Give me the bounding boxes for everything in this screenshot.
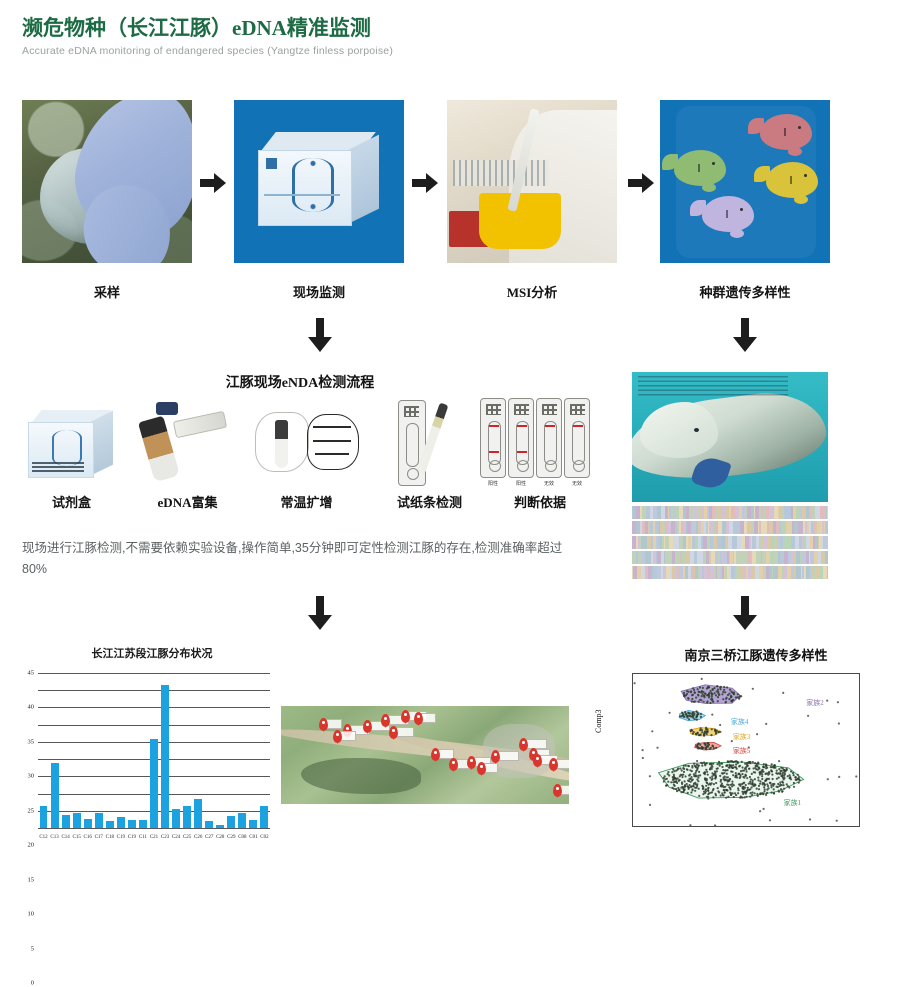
scatter-point	[765, 764, 767, 766]
scatter-point	[794, 776, 796, 778]
description-text: 现场进行江豚检测,不需要依赖实验设备,操作简单,35分钟即可定性检测江豚的存在,…	[22, 538, 584, 580]
scatter-point	[710, 734, 712, 736]
scatter-point	[717, 790, 719, 792]
map-marker-label	[326, 719, 342, 729]
dna-helix-icon	[292, 158, 334, 212]
map-pin[interactable]	[414, 712, 423, 725]
cluster-label: 家族1	[784, 798, 802, 808]
map-pin[interactable]	[363, 720, 372, 733]
scatter-point	[783, 788, 785, 790]
scatter-point	[730, 700, 732, 702]
map-marker-label	[340, 731, 356, 741]
kit-box-photo	[234, 100, 404, 263]
scatter-point	[752, 761, 754, 763]
scatter-point	[768, 771, 770, 773]
scatter-point	[728, 766, 730, 768]
scatter-point	[735, 760, 737, 762]
scatter-point	[675, 788, 677, 790]
yangtze-jiangsu-satellite-map[interactable]	[281, 706, 569, 804]
arrow-down-icon	[733, 596, 757, 630]
test-strip: 无效	[536, 398, 562, 487]
scatter-point	[770, 766, 772, 768]
scatter-point	[751, 786, 753, 788]
scatter-point	[688, 718, 690, 720]
scatter-point	[666, 778, 668, 780]
scatter-point	[759, 783, 761, 785]
scatter-title: 南京三桥江豚遗传多样性	[596, 645, 896, 664]
scatter-point	[682, 774, 684, 776]
scatter-point	[742, 776, 744, 778]
scatter-point	[715, 733, 717, 735]
scatter-point	[671, 771, 673, 773]
scatter-point	[705, 728, 707, 730]
scatter-point	[706, 771, 708, 773]
map-marker-label	[484, 763, 498, 773]
scatter-point	[697, 743, 699, 745]
scatter-point	[696, 719, 698, 721]
scatter-point	[672, 777, 674, 779]
scatter-point	[757, 777, 759, 779]
scatter-point	[722, 785, 724, 787]
scatter-point	[739, 774, 741, 776]
scatter-point	[722, 769, 724, 771]
scatter-point	[709, 783, 711, 785]
bar	[106, 821, 114, 828]
scatter-point	[721, 693, 723, 695]
hand-amplification-icon	[249, 396, 364, 488]
scatter-point	[673, 784, 675, 786]
bar	[95, 813, 103, 828]
scatter-point	[732, 767, 734, 769]
scatter-point	[709, 777, 711, 779]
scatter-point	[706, 700, 708, 702]
x-axis-tick: C25	[182, 835, 193, 840]
yangtze-finless-porpoise-photo	[632, 372, 828, 502]
cluster-label: 家族5	[733, 746, 751, 756]
scatter-point	[741, 766, 743, 768]
scatter-point	[732, 774, 734, 776]
scatter-point	[686, 690, 688, 692]
scatter-point	[734, 792, 736, 794]
scatter-point	[781, 775, 783, 777]
scatter-point	[717, 696, 719, 698]
scatter-point	[731, 781, 733, 783]
scatter-point	[701, 785, 703, 787]
scatter-point	[663, 780, 665, 782]
workflow-step-label: 试纸条检测	[372, 492, 487, 511]
scatter-point-outlier	[838, 722, 840, 724]
map-pin[interactable]	[319, 718, 328, 731]
scatter-point	[735, 774, 737, 776]
scatter-point	[703, 735, 705, 737]
scatter-point	[702, 793, 704, 795]
scatter-point	[742, 787, 744, 789]
scatter-point	[783, 775, 785, 777]
scatter-point-outlier	[725, 776, 727, 778]
scatter-point	[729, 689, 731, 691]
strip-line	[573, 425, 583, 427]
scatter-point-outlier	[696, 760, 698, 762]
scatter-point	[726, 784, 728, 786]
arrow-right-icon	[628, 172, 654, 194]
scatter-point	[773, 765, 775, 767]
porpoise-green-icon	[674, 150, 726, 186]
map-pin[interactable]	[549, 758, 558, 771]
scatter-point	[755, 768, 757, 770]
scatter-point	[724, 691, 726, 693]
scatter-point	[750, 792, 752, 794]
scatter-point	[752, 779, 754, 781]
scatter-point	[732, 692, 734, 694]
scatter-point	[730, 696, 732, 698]
scatter-point	[728, 698, 730, 700]
gridline: 35	[38, 707, 270, 708]
scatter-point	[698, 795, 700, 797]
y-axis-tick: 30	[28, 773, 35, 780]
scatter-point	[759, 780, 761, 782]
scatter-point	[772, 778, 774, 780]
map-pin[interactable]	[477, 762, 486, 775]
scatter-point	[748, 761, 750, 763]
scatter-point-outlier	[634, 682, 636, 684]
scatter-point	[795, 779, 797, 781]
scatter-point	[710, 747, 712, 749]
scatter-point-outlier	[836, 820, 838, 822]
test-strip: 无效	[564, 398, 590, 487]
strip-line	[489, 425, 499, 427]
scatter-point	[716, 768, 718, 770]
scatter-point	[668, 774, 670, 776]
scatter-point	[677, 768, 679, 770]
page-title: 濒危物种（长江江豚）eDNA精准监测	[22, 12, 393, 42]
scatter-point	[767, 787, 769, 789]
scatter-point	[695, 733, 697, 735]
workflow-step-label: eDNA富集	[130, 492, 245, 511]
scatter-point	[741, 797, 743, 799]
scatter-point	[692, 715, 694, 717]
x-axis-tick: C16	[82, 835, 93, 840]
scatter-point	[700, 713, 702, 715]
map-pin[interactable]	[533, 754, 542, 767]
scatter-point	[786, 783, 788, 785]
scatter-point	[778, 777, 780, 779]
scatter-point	[754, 762, 756, 764]
scatter-point	[716, 770, 718, 772]
scatter-point	[697, 777, 699, 779]
map-pin[interactable]	[553, 784, 562, 797]
bar	[183, 806, 191, 828]
scatter-point	[733, 796, 735, 798]
scatter-point	[748, 768, 750, 770]
strip-line	[489, 451, 499, 453]
vegetation-patch	[301, 758, 421, 794]
scatter-point	[730, 764, 732, 766]
scatter-point	[724, 776, 726, 778]
scatter-point	[773, 788, 775, 790]
scatter-point	[765, 780, 767, 782]
scatter-point-outlier	[651, 730, 653, 732]
top-flow-row: 采样 现场监测	[0, 100, 900, 305]
bar	[128, 820, 136, 828]
scatter-point-outlier	[807, 715, 809, 717]
scatter-point	[694, 790, 696, 792]
scatter-point	[684, 780, 686, 782]
scatter-point	[736, 696, 738, 698]
scatter-point	[711, 775, 713, 777]
bar	[150, 739, 158, 828]
scatter-point	[737, 792, 739, 794]
scatter-point	[676, 790, 678, 792]
scatter-point	[728, 693, 730, 695]
scatter-point	[725, 701, 727, 703]
strip-line	[517, 425, 527, 427]
bar	[205, 821, 213, 828]
porpoise-yellow-icon	[766, 162, 818, 198]
x-axis-tick: C19	[126, 835, 137, 840]
map-pin[interactable]	[389, 726, 398, 739]
scatter-point	[729, 778, 731, 780]
scatter-point	[683, 694, 685, 696]
bar	[161, 685, 169, 828]
scatter-point	[721, 783, 723, 785]
yellow-rack	[479, 193, 561, 249]
barcode-row	[632, 536, 828, 549]
scatter-point	[677, 787, 679, 789]
scatter-point	[765, 767, 767, 769]
scatter-point	[679, 767, 681, 769]
strip-line	[545, 425, 555, 427]
scatter-point	[713, 783, 715, 785]
porpoise-eye	[694, 428, 699, 432]
lab-pipetting-photo	[447, 100, 617, 263]
scatter-point	[686, 785, 688, 787]
workflow-step-label: 常温扩增	[249, 492, 364, 511]
scatter-point	[723, 789, 725, 791]
scatter-point	[681, 769, 683, 771]
x-axis-tick: C02	[259, 835, 270, 840]
bar	[238, 813, 246, 828]
scatter-point	[687, 792, 689, 794]
y-tick-mark	[632, 826, 633, 827]
scatter-point	[727, 761, 729, 763]
map-pin[interactable]	[491, 750, 500, 763]
barcode-row	[632, 506, 828, 519]
scatter-point	[673, 788, 675, 790]
scatter-point	[717, 731, 719, 733]
arrow-down-icon	[308, 318, 332, 352]
scatter-point	[753, 767, 755, 769]
scatter-point	[758, 768, 760, 770]
scatter-point-outlier	[782, 692, 784, 694]
x-axis-tick: C11	[137, 835, 148, 840]
scatter-point	[723, 794, 725, 796]
scatter-point	[724, 791, 726, 793]
map-pin[interactable]	[467, 756, 476, 769]
x-axis-tick: C19	[115, 835, 126, 840]
scatter-point-outlier	[826, 700, 828, 702]
flow-step-genetic-diversity: 种群遗传多样性	[660, 100, 830, 301]
scatter-point	[790, 770, 792, 772]
scatter-point	[693, 731, 695, 733]
scatter-point	[743, 769, 745, 771]
arrow-down-icon	[733, 318, 757, 352]
scatter-point	[665, 784, 667, 786]
scatter-point	[765, 773, 767, 775]
scatter-point	[723, 686, 725, 688]
map-pin[interactable]	[431, 748, 440, 761]
gridline: 40	[38, 690, 270, 691]
scatter-point	[737, 693, 739, 695]
scatter-point	[689, 784, 691, 786]
reagent-kit-icon	[28, 410, 114, 478]
scatter-point	[761, 775, 763, 777]
scatter-point	[778, 791, 780, 793]
scatter-point	[697, 688, 699, 690]
scatter-point	[764, 788, 766, 790]
scatter-point-outlier	[752, 688, 754, 690]
scatter-point	[691, 770, 693, 772]
workflow-step-kit: 试剂盒	[14, 396, 129, 511]
scatter-point-outlier	[719, 724, 721, 726]
scatter-point	[753, 771, 755, 773]
scatter-point	[758, 785, 760, 787]
scatter-point	[797, 774, 799, 776]
page-subtitle: Accurate eDNA monitoring of endangered s…	[22, 45, 393, 57]
scatter-point	[714, 772, 716, 774]
map-pin[interactable]	[401, 710, 410, 723]
scatter-point	[714, 728, 716, 730]
scatter-point	[783, 778, 785, 780]
scatter-point	[697, 780, 699, 782]
flow-step-label: MSI分析	[447, 282, 617, 301]
bar	[227, 816, 235, 828]
workflow-title: 江豚现场eNDA检测流程	[0, 372, 600, 392]
scatter-point	[706, 796, 708, 798]
x-axis-tick: C12	[38, 835, 49, 840]
scatter-point-outlier	[769, 819, 771, 821]
scatter-point	[748, 783, 750, 785]
scatter-point	[749, 788, 751, 790]
scatter-point	[696, 787, 698, 789]
scatter-point-outlier	[701, 678, 703, 680]
scatter-point	[719, 687, 721, 689]
y-axis-tick: 40	[28, 704, 35, 711]
scatter-point-outlier	[838, 776, 840, 778]
scatter-point-outlier	[809, 818, 811, 820]
scatter-point	[691, 785, 693, 787]
scatter-point-outlier	[767, 778, 769, 780]
bar	[139, 820, 147, 828]
workflow-step-label: 试剂盒	[14, 492, 129, 511]
scatter-point	[696, 715, 698, 717]
bar	[62, 815, 70, 828]
scatter-point	[782, 782, 784, 784]
scatter-point	[694, 765, 696, 767]
scatter-point	[763, 782, 765, 784]
scatter-point	[770, 786, 772, 788]
scatter-point	[789, 774, 791, 776]
scatter-plot-area: 0.40.30.20.10.0-0.1-0.2-0.3-0.4-0.20.00.…	[632, 673, 860, 827]
scatter-point	[712, 796, 714, 798]
barcode-row	[632, 551, 828, 564]
scatter-point	[741, 783, 743, 785]
scatter-point	[695, 697, 697, 699]
flow-step-label: 现场监测	[234, 282, 404, 301]
scatter-point	[724, 779, 726, 781]
map-pin[interactable]	[449, 758, 458, 771]
scatter-point	[712, 763, 714, 765]
map-pin[interactable]	[381, 714, 390, 727]
scatter-point	[716, 690, 718, 692]
scatter-point	[682, 767, 684, 769]
scatter-point	[672, 768, 674, 770]
scatter-point-outlier	[642, 749, 644, 751]
scatter-point	[689, 715, 691, 717]
scatter-point	[737, 787, 739, 789]
scatter-point	[691, 789, 693, 791]
scatter-point	[711, 693, 713, 695]
scatter-point	[686, 783, 688, 785]
reagent-kit-box	[258, 132, 380, 228]
bar-chart-plot-area: 051015202530354045	[38, 673, 270, 828]
map-marker-label	[498, 751, 519, 761]
scatter-point	[713, 747, 715, 749]
scatter-point	[762, 793, 764, 795]
scatter-point	[723, 772, 725, 774]
scatter-point	[708, 692, 710, 694]
scatter-point	[701, 731, 703, 733]
y-axis-tick: 20	[28, 842, 35, 849]
four-test-strips-icon: 阳性阳性无效无效	[480, 396, 600, 488]
scatter-point	[698, 701, 700, 703]
scatter-point	[708, 686, 710, 688]
scatter-point	[714, 777, 716, 779]
scatter-point	[727, 796, 729, 798]
map-pin[interactable]	[519, 738, 528, 751]
scatter-point	[698, 788, 700, 790]
scatter-point	[680, 787, 682, 789]
scatter-point	[711, 696, 713, 698]
scatter-point	[780, 770, 782, 772]
scatter-point	[694, 782, 696, 784]
scatter-point	[685, 713, 687, 715]
scatter-point	[756, 793, 758, 795]
scatter-point	[721, 772, 723, 774]
bar	[51, 763, 59, 828]
scatter-point	[697, 694, 699, 696]
scatter-point	[718, 762, 720, 764]
scatter-point	[769, 782, 771, 784]
scatter-point	[716, 685, 718, 687]
scatter-point	[707, 790, 709, 792]
scatter-point	[728, 786, 730, 788]
scatter-point	[733, 784, 735, 786]
scatter-point	[675, 777, 677, 779]
scatter-point	[720, 795, 722, 797]
cluster-label: 家族2	[806, 698, 824, 708]
strip-result-label: 阳性	[480, 480, 506, 487]
scatter-point	[771, 763, 773, 765]
scatter-point	[707, 774, 709, 776]
scatter-point	[697, 713, 699, 715]
scatter-point	[706, 694, 708, 696]
scatter-point-outlier	[703, 701, 705, 703]
scatter-point-outlier	[759, 810, 761, 812]
scatter-point-outlier	[682, 714, 684, 716]
scatter-point	[692, 779, 694, 781]
map-pin[interactable]	[333, 730, 342, 743]
scatter-point	[695, 745, 697, 747]
